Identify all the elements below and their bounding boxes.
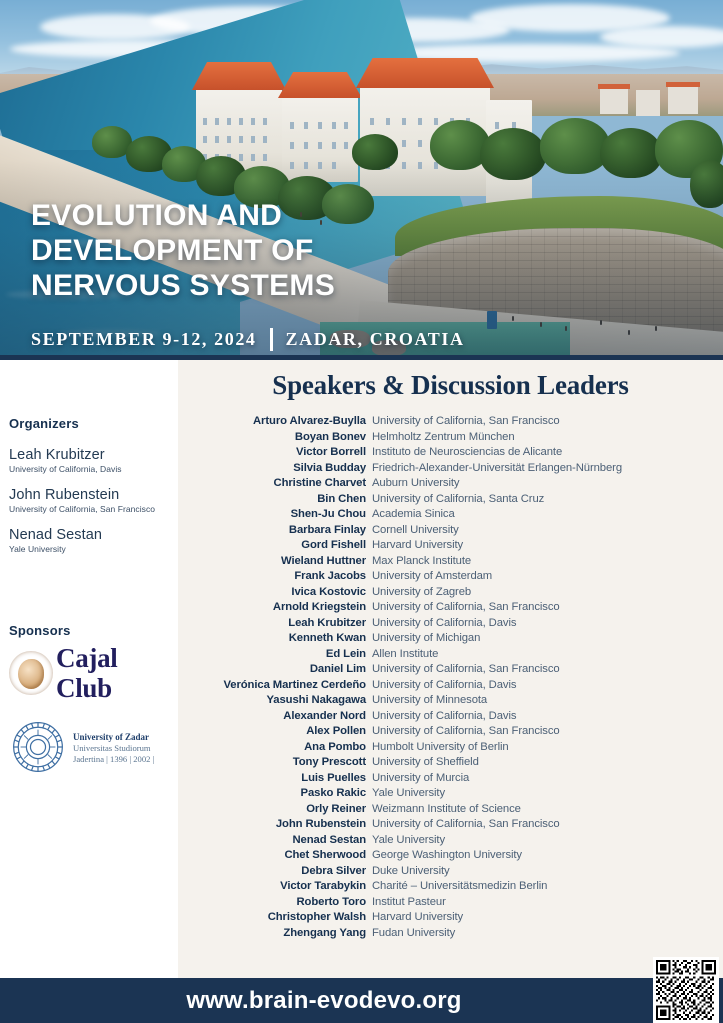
speaker-row: Yasushi NakagawaUniversity of Minnesota (178, 693, 723, 709)
event-dates: SEPTEMBER 9-12, 2024 (31, 329, 257, 350)
speaker-row: Wieland HuttnerMax Planck Institute (178, 554, 723, 570)
speaker-name: Luis Puelles (178, 771, 372, 787)
speaker-name: Ana Pombo (178, 740, 372, 756)
speaker-name: Silvia Budday (178, 461, 372, 477)
speaker-affiliation: Auburn University (372, 476, 459, 492)
speaker-name: Pasko Rakic (178, 786, 372, 802)
speaker-row: Daniel LimUniversity of California, San … (178, 662, 723, 678)
speaker-row: Arturo Alvarez-BuyllaUniversity of Calif… (178, 414, 723, 430)
speaker-affiliation: Harvard University (372, 910, 463, 926)
speaker-row: Arnold KriegsteinUniversity of Californi… (178, 600, 723, 616)
speaker-affiliation: Harvard University (372, 538, 463, 554)
qr-code[interactable] (653, 957, 719, 1023)
speaker-name: Christine Charvet (178, 476, 372, 492)
organizer-affiliation: University of California, Davis (9, 464, 174, 475)
speaker-row: Leah KrubitzerUniversity of California, … (178, 616, 723, 632)
orange-roof (356, 58, 494, 88)
speaker-row: Kenneth KwanUniversity of Michigan (178, 631, 723, 647)
speaker-row: Ed LeinAllen Institute (178, 647, 723, 663)
speaker-row: Shen-Ju ChouAcademia Sinica (178, 507, 723, 523)
speaker-name: Frank Jacobs (178, 569, 372, 585)
speaker-name: Ed Lein (178, 647, 372, 663)
speaker-affiliation: University of Zagreb (372, 585, 471, 601)
speaker-name: Chet Sherwood (178, 848, 372, 864)
zadar-wordmark: University of Zadar Universitas Studioru… (73, 730, 154, 764)
organizer-name: Leah Krubitzer (9, 447, 174, 464)
speaker-row: Verónica Martinez CerdeñoUniversity of C… (178, 678, 723, 694)
sponsor-logo-cajal-club[interactable]: Cajal Club (9, 650, 179, 696)
speaker-row: Barbara FinlayCornell University (178, 523, 723, 539)
portrait-profile-icon (18, 659, 44, 689)
hero-photo: EVOLUTION AND DEVELOPMENT OF NERVOUS SYS… (0, 0, 723, 360)
sponsors-list: Cajal Club (9, 650, 179, 776)
speaker-affiliation: Charité – Universitätsmedizin Berlin (372, 879, 547, 895)
speaker-affiliation: Max Planck Institute (372, 554, 471, 570)
speaker-row: Ana PomboHumbolt University of Berlin (178, 740, 723, 756)
zadar-line-2: Universitas Studiorum (73, 743, 154, 754)
organizer-name: Nenad Sestan (9, 527, 174, 544)
speaker-name: Ivica Kostovic (178, 585, 372, 601)
speaker-row: Bin ChenUniversity of California, Santa … (178, 492, 723, 508)
speaker-affiliation: Helmholtz Zentrum München (372, 430, 515, 446)
speaker-affiliation: University of California, San Francisco (372, 724, 560, 740)
speaker-row: Christopher WalshHarvard University (178, 910, 723, 926)
speaker-name: Tony Prescott (178, 755, 372, 771)
cajal-medallion-icon (9, 651, 53, 695)
speaker-affiliation: University of California, Davis (372, 709, 516, 725)
speaker-row: Ivica KostovicUniversity of Zagreb (178, 585, 723, 601)
zadar-line-1: University of Zadar (73, 732, 154, 743)
sponsor-logo-university-of-zadar[interactable]: University of Zadar Universitas Studioru… (9, 718, 179, 776)
speaker-row: John RubensteinUniversity of California,… (178, 817, 723, 833)
speaker-affiliation: George Washington University (372, 848, 522, 864)
speaker-row: Frank JacobsUniversity of Amsterdam (178, 569, 723, 585)
speaker-name: Alexander Nord (178, 709, 372, 725)
organizer-item: Leah Krubitzer University of California,… (9, 447, 174, 475)
distant-building (668, 84, 698, 114)
speaker-affiliation: Allen Institute (372, 647, 438, 663)
title-line-2: DEVELOPMENT OF (31, 233, 511, 268)
speaker-name: Christopher Walsh (178, 910, 372, 926)
speakers-heading: Speakers & Discussion Leaders (178, 370, 723, 401)
speaker-name: Alex Pollen (178, 724, 372, 740)
speaker-name: Roberto Toro (178, 895, 372, 911)
speaker-name: Verónica Martinez Cerdeño (178, 678, 372, 694)
speaker-name: Yasushi Nakagawa (178, 693, 372, 709)
speaker-affiliation: University of California, San Francisco (372, 662, 560, 678)
speaker-name: Wieland Huttner (178, 554, 372, 570)
speaker-affiliation: University of California, Davis (372, 678, 516, 694)
speaker-affiliation: Friedrich-Alexander-Universität Erlangen… (372, 461, 622, 477)
organizers-list: Leah Krubitzer University of California,… (9, 447, 174, 567)
speaker-name: Arturo Alvarez-Buylla (178, 414, 372, 430)
speakers-list: Arturo Alvarez-BuyllaUniversity of Calif… (178, 414, 723, 941)
event-location: ZADAR, CROATIA (286, 329, 465, 350)
website-url[interactable]: www.brain-evodevo.org (0, 978, 648, 1023)
cajal-club-wordmark: Cajal Club (56, 643, 179, 703)
speaker-name: Boyan Bonev (178, 430, 372, 446)
poster-title: EVOLUTION AND DEVELOPMENT OF NERVOUS SYS… (31, 198, 511, 303)
speaker-row: Roberto ToroInstitut Pasteur (178, 895, 723, 911)
speaker-row: Alex PollenUniversity of California, San… (178, 724, 723, 740)
speaker-affiliation: University of Murcia (372, 771, 469, 787)
speaker-name: Arnold Kriegstein (178, 600, 372, 616)
speaker-affiliation: Yale University (372, 833, 445, 849)
speaker-affiliation: Humbolt University of Berlin (372, 740, 509, 756)
speaker-affiliation: University of California, San Francisco (372, 600, 560, 616)
speaker-row: Debra SilverDuke University (178, 864, 723, 880)
distant-building (600, 86, 628, 114)
speaker-affiliation: University of California, Davis (372, 616, 516, 632)
speaker-affiliation: University of Sheffield (372, 755, 479, 771)
distant-building (636, 90, 660, 116)
speaker-name: Gord Fishell (178, 538, 372, 554)
sponsors-heading: Sponsors (9, 623, 71, 638)
speaker-affiliation: Cornell University (372, 523, 459, 539)
zadar-line-3: Jadertina | 1396 | 2002 | (73, 754, 154, 765)
distant-roof (598, 84, 630, 89)
speaker-row: Chet SherwoodGeorge Washington Universit… (178, 848, 723, 864)
qr-code-icon (656, 960, 716, 1020)
speaker-row: Pasko RakicYale University (178, 786, 723, 802)
speaker-name: Zhengang Yang (178, 926, 372, 942)
speaker-affiliation: Instituto de Neurosciencias de Alicante (372, 445, 562, 461)
speaker-name: Leah Krubitzer (178, 616, 372, 632)
speaker-name: Bin Chen (178, 492, 372, 508)
speaker-affiliation: Duke University (372, 864, 450, 880)
zadar-sunburst-icon (9, 718, 67, 776)
orange-roof (192, 62, 286, 90)
speaker-row: Luis PuellesUniversity of Murcia (178, 771, 723, 787)
speaker-name: Nenad Sestan (178, 833, 372, 849)
speaker-affiliation: University of Amsterdam (372, 569, 492, 585)
speaker-name: John Rubenstein (178, 817, 372, 833)
speaker-name: Barbara Finlay (178, 523, 372, 539)
speaker-name: Debra Silver (178, 864, 372, 880)
speaker-name: Daniel Lim (178, 662, 372, 678)
organizers-heading: Organizers (9, 416, 79, 431)
speaker-row: Victor TarabykinCharité – Universitätsme… (178, 879, 723, 895)
speaker-row: Silvia BuddayFriedrich-Alexander-Univers… (178, 461, 723, 477)
organizer-item: Nenad Sestan Yale University (9, 527, 174, 555)
speaker-affiliation: Institut Pasteur (372, 895, 446, 911)
speaker-row: Victor BorrellInstituto de Neurosciencia… (178, 445, 723, 461)
distant-roof (666, 82, 700, 87)
vertical-divider-icon (270, 328, 273, 351)
speaker-affiliation: University of California, San Francisco (372, 414, 560, 430)
speaker-affiliation: University of California, San Francisco (372, 817, 560, 833)
speaker-name: Victor Borrell (178, 445, 372, 461)
organizer-affiliation: Yale University (9, 544, 174, 555)
footer-bar: www.brain-evodevo.org (0, 978, 723, 1023)
speaker-affiliation: Yale University (372, 786, 445, 802)
speaker-row: Alexander NordUniversity of California, … (178, 709, 723, 725)
speaker-affiliation: Fudan University (372, 926, 455, 942)
speaker-affiliation: University of California, Santa Cruz (372, 492, 544, 508)
speaker-row: Orly ReinerWeizmann Institute of Science (178, 802, 723, 818)
organizer-item: John Rubenstein University of California… (9, 487, 174, 515)
speaker-name: Shen-Ju Chou (178, 507, 372, 523)
speaker-row: Boyan BonevHelmholtz Zentrum München (178, 430, 723, 446)
title-line-1: EVOLUTION AND (31, 198, 511, 233)
speaker-row: Nenad SestanYale University (178, 833, 723, 849)
speaker-affiliation: Weizmann Institute of Science (372, 802, 521, 818)
organizer-name: John Rubenstein (9, 487, 174, 504)
speaker-row: Christine CharvetAuburn University (178, 476, 723, 492)
speaker-affiliation: University of Michigan (372, 631, 480, 647)
speaker-name: Orly Reiner (178, 802, 372, 818)
title-line-3: NERVOUS SYSTEMS (31, 268, 511, 303)
event-meta: SEPTEMBER 9-12, 2024 ZADAR, CROATIA (31, 328, 465, 351)
speaker-row: Gord FishellHarvard University (178, 538, 723, 554)
speaker-affiliation: University of Minnesota (372, 693, 487, 709)
speaker-name: Victor Tarabykin (178, 879, 372, 895)
speaker-row: Zhengang YangFudan University (178, 926, 723, 942)
speaker-name: Kenneth Kwan (178, 631, 372, 647)
speaker-row: Tony PrescottUniversity of Sheffield (178, 755, 723, 771)
speaker-affiliation: Academia Sinica (372, 507, 455, 523)
organizer-affiliation: University of California, San Francisco (9, 504, 174, 515)
